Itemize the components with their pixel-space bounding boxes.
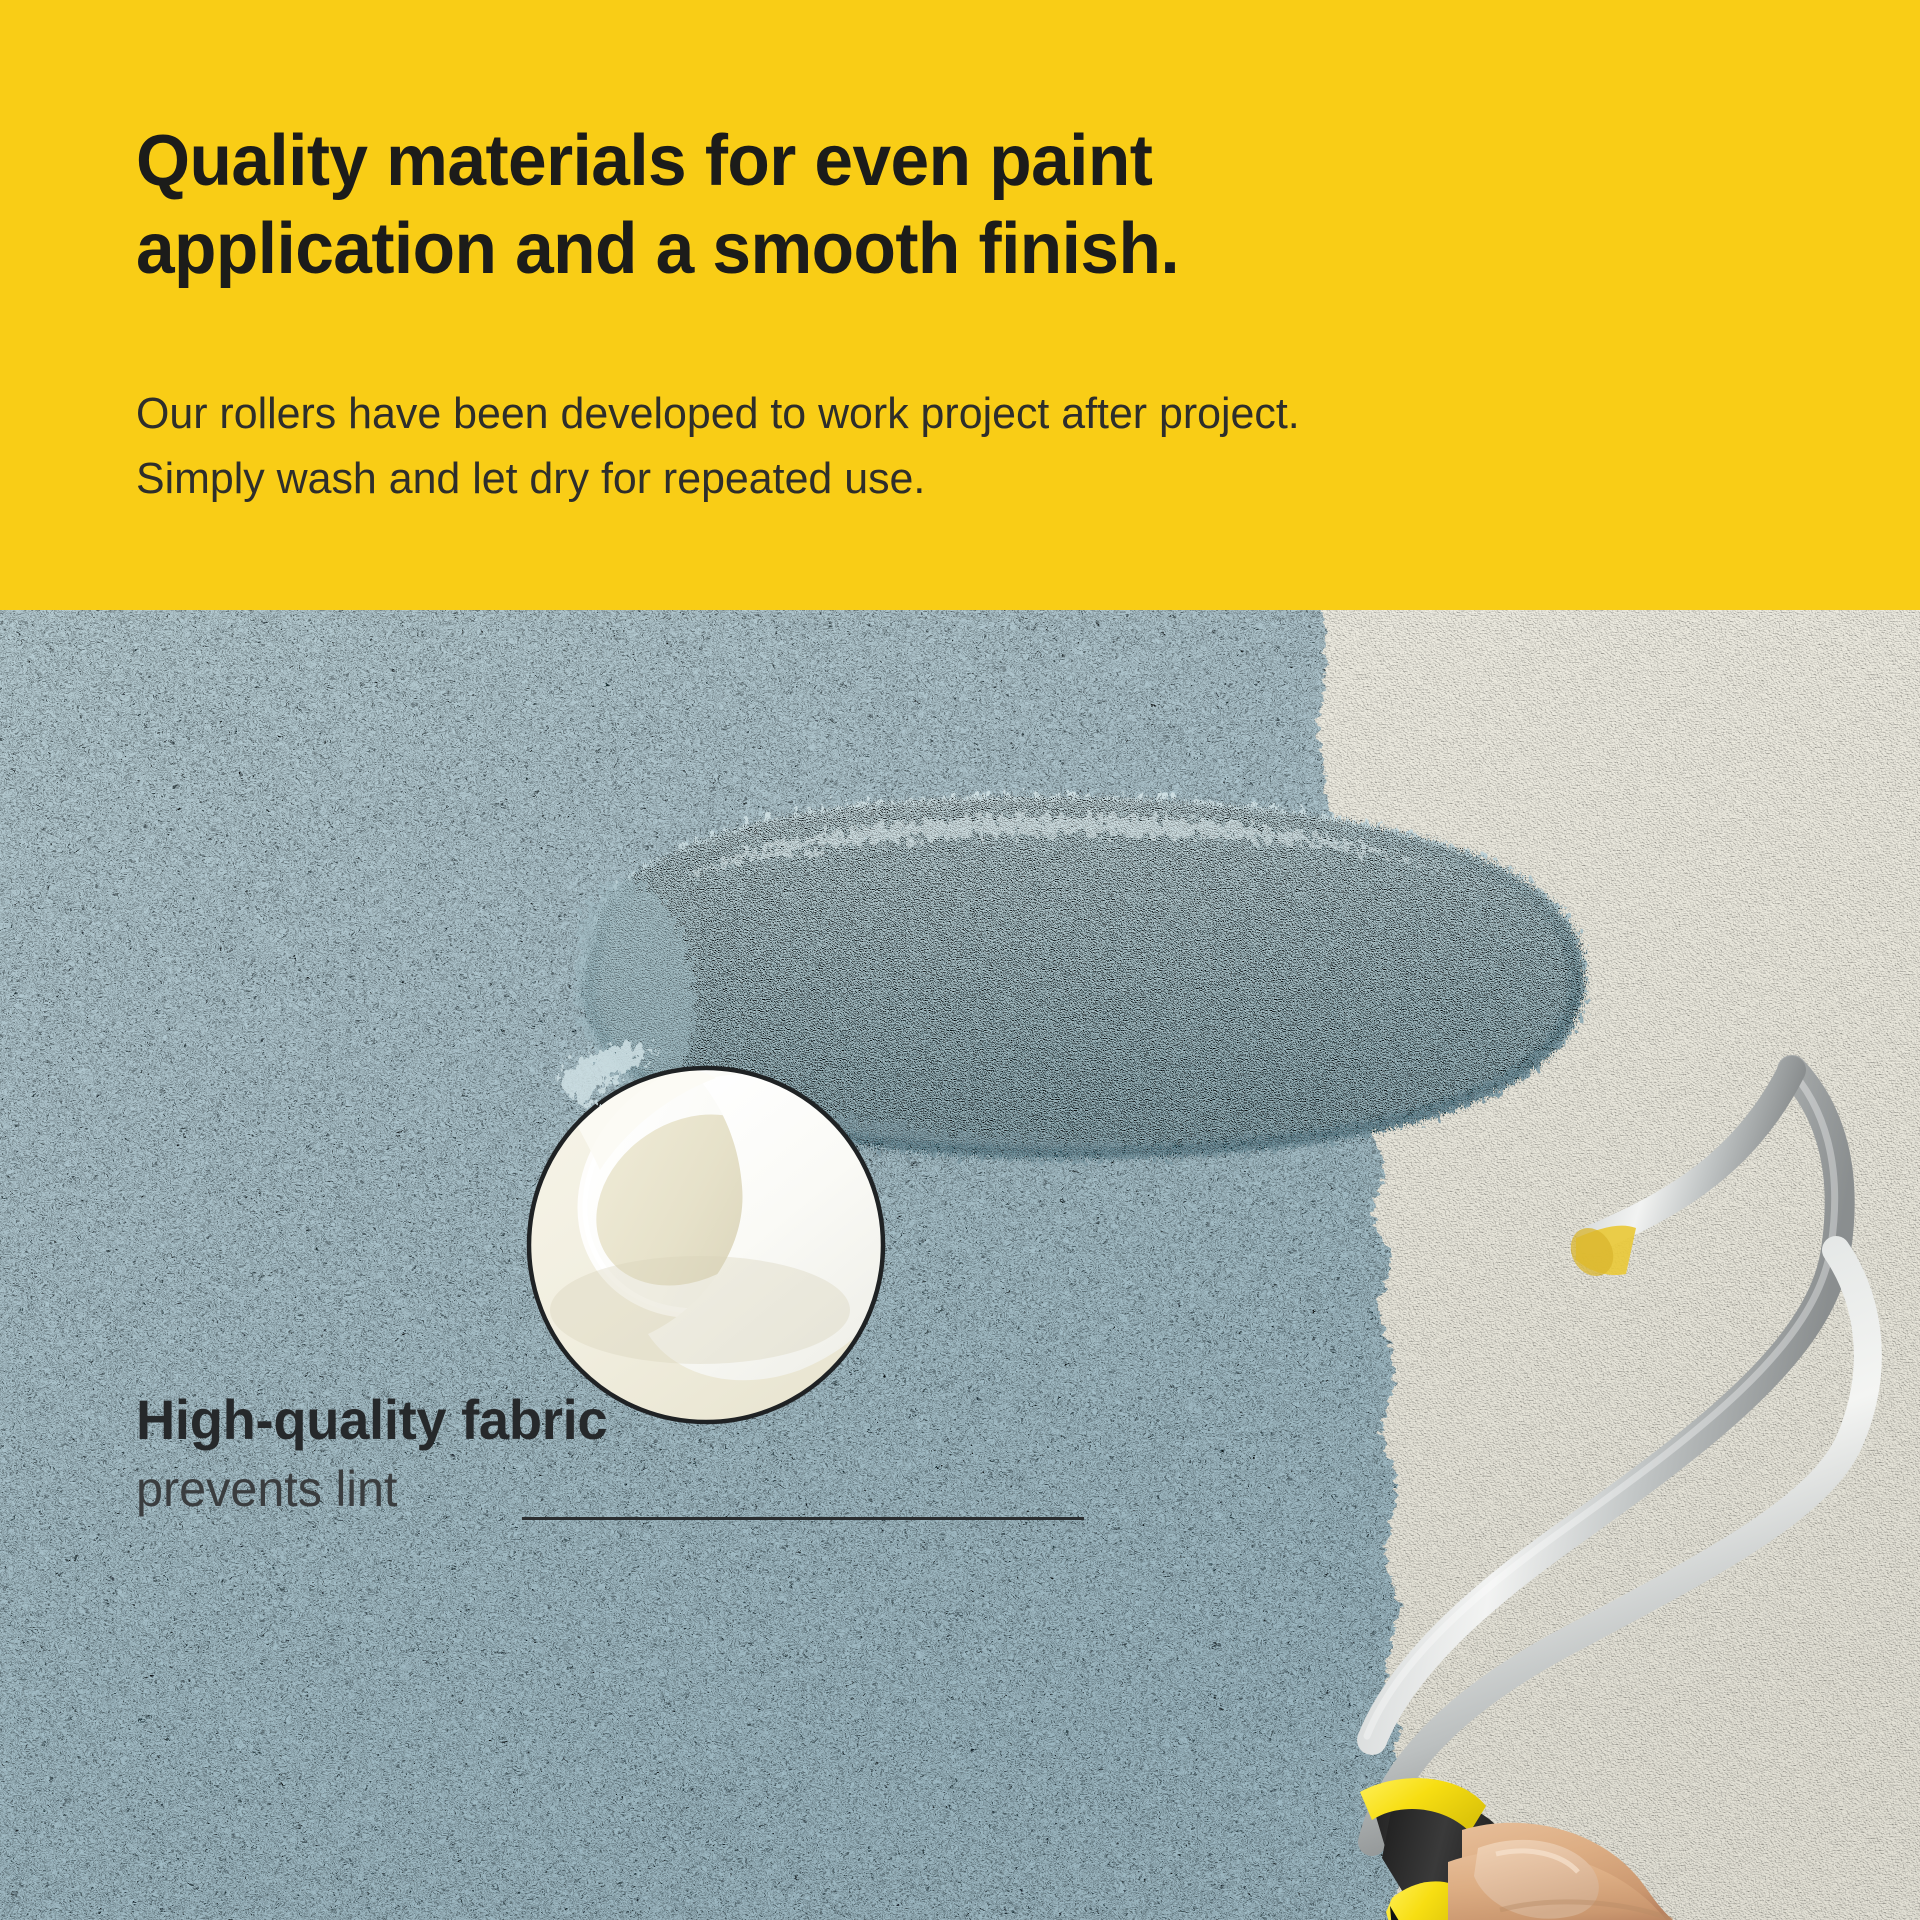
headline-line-2: application and a smooth finish.	[136, 206, 1584, 294]
photo-illustration	[0, 610, 1920, 1920]
callout-subtitle: prevents lint	[136, 1462, 607, 1517]
page-subtitle: Our rollers have been developed to work …	[136, 382, 1618, 511]
callout-high-quality-fabric: High-quality fabric prevents lint	[136, 1390, 622, 1517]
subhead-line-1: Our rollers have been developed to work …	[136, 382, 1618, 447]
leader-line-horizontal	[522, 1517, 1084, 1520]
product-feature-graphic: Quality materials for even paint applica…	[0, 0, 1920, 1920]
headline-line-1: Quality materials for even paint	[136, 118, 1584, 206]
page-title: Quality materials for even paint applica…	[136, 118, 1584, 294]
product-photo: High-quality fabric prevents lint Polypr…	[0, 610, 1920, 1920]
header-band: Quality materials for even paint applica…	[0, 0, 1920, 610]
callout-title: High-quality fabric	[136, 1390, 607, 1450]
subhead-line-2: Simply wash and let dry for repeated use…	[136, 447, 1618, 512]
